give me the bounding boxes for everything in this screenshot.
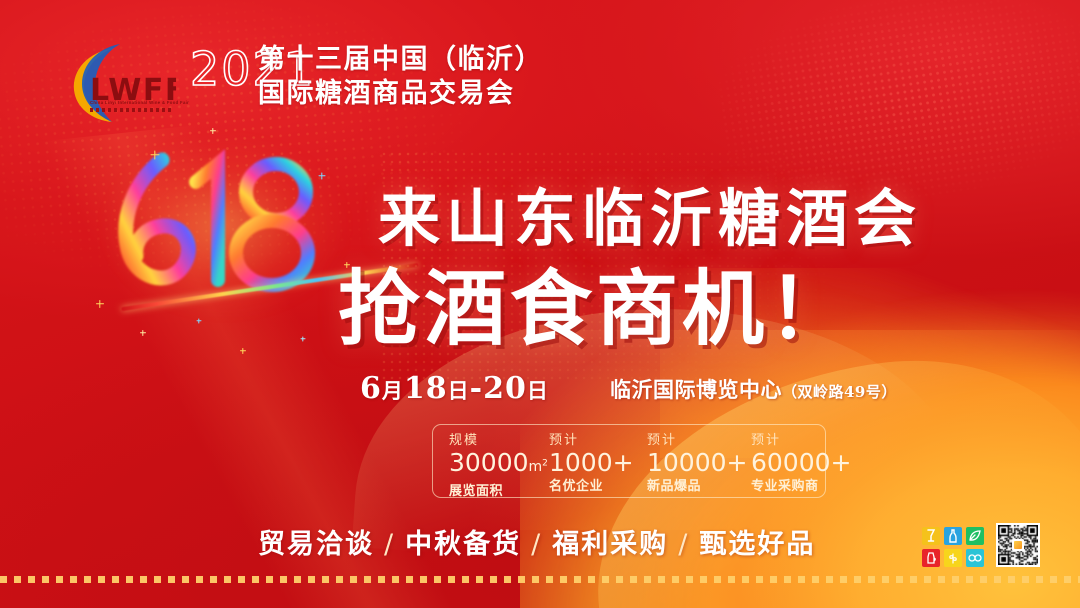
tagline-separator: /: [521, 529, 552, 560]
date-month-unit: 月: [382, 378, 404, 403]
promotional-banner: LWFF China Linyi International Wine & Fo…: [0, 0, 1080, 608]
headline-secondary: 抢酒食商机！: [338, 266, 854, 354]
icon-glasses[interactable]: [966, 549, 984, 567]
logo-subtitle: China Linyi International Wine & Food Fa…: [90, 100, 174, 105]
sparkle: [318, 172, 325, 179]
date-end-unit: 日: [527, 378, 549, 403]
event-title-line1: 第十三届中国（临沂）: [258, 44, 543, 75]
icon-leaf[interactable]: [966, 527, 984, 545]
stat-item: 预计1000+名优企业: [549, 432, 647, 491]
promo-618-graphic: [100, 138, 350, 323]
stat-desc: 展览面积: [449, 483, 549, 499]
sparkle: [196, 318, 201, 323]
qr-center-logo: [1012, 539, 1024, 551]
tagline-separator: /: [668, 529, 699, 560]
event-venue: 临沂国际博览中心（双岭路49号）: [610, 376, 897, 406]
date-day-start: 18: [404, 371, 448, 406]
stat-key: 规模: [449, 432, 549, 447]
date-dash: -: [470, 371, 483, 406]
stat-desc: 专业采购商: [751, 478, 846, 494]
logo-decor-bars: [90, 108, 174, 112]
sparkle: [96, 300, 104, 308]
stat-key: 预计: [751, 432, 846, 447]
icon-bottle[interactable]: [944, 527, 962, 545]
banner-header: LWFF China Linyi International Wine & Fo…: [0, 0, 1080, 132]
stats-panel: 规模30000m2展览面积预计1000+名优企业预计10000+新品爆品预计60…: [432, 424, 826, 498]
stat-value: 30000m2: [449, 448, 549, 482]
sparkle: [150, 150, 159, 159]
sparkle: [210, 128, 216, 134]
event-meta: 6月18日-20日 临沂国际博览中心（双岭路49号）: [360, 372, 940, 408]
tagline-item: 甄选好品: [699, 529, 815, 560]
tagline-item: 中秋备货: [405, 529, 521, 560]
stat-unit: m2: [529, 459, 548, 475]
tagline-separator: /: [374, 529, 405, 560]
stat-item: 预计10000+新品爆品: [647, 432, 751, 491]
event-date: 6月18日-20日: [360, 372, 549, 408]
icon-jug[interactable]: [922, 549, 940, 567]
app-icon-grid: [922, 527, 984, 567]
event-title-line2: 国际糖酒商品交易会: [258, 78, 543, 109]
stat-desc: 新品爆品: [647, 478, 751, 494]
dashed-divider: [0, 576, 1080, 583]
icon-grain[interactable]: [944, 549, 962, 567]
stat-key: 预计: [549, 432, 647, 447]
icon-wine-pour[interactable]: [922, 527, 940, 545]
qr-code[interactable]: [996, 523, 1040, 567]
date-month: 6: [360, 371, 382, 406]
lwff-logo: LWFF China Linyi International Wine & Fo…: [68, 42, 176, 128]
stat-value: 1000+: [549, 448, 647, 477]
stat-value: 60000+: [751, 448, 846, 477]
tagline-item: 福利采购: [552, 529, 668, 560]
sparkle: [300, 336, 305, 341]
stat-item: 预计60000+专业采购商: [751, 432, 846, 491]
stat-item: 规模30000m2展览面积: [449, 432, 549, 491]
event-title: 第十三届中国（临沂） 国际糖酒商品交易会: [258, 44, 543, 109]
date-day-unit: 日: [448, 378, 470, 403]
venue-address: （双岭路49号）: [782, 383, 897, 401]
headline-primary: 来山东临沂糖酒会: [378, 186, 922, 252]
sparkle: [240, 348, 246, 354]
stat-key: 预计: [647, 432, 751, 447]
date-day-end: 20: [483, 371, 527, 406]
qr-code-image: [998, 525, 1038, 565]
sparkle: [140, 330, 146, 336]
venue-name: 临沂国际博览中心: [610, 377, 782, 402]
stat-desc: 名优企业: [549, 478, 647, 494]
tagline-list: 贸易洽谈/中秋备货/福利采购/甄选好品: [258, 528, 815, 562]
stat-value: 10000+: [647, 448, 751, 477]
tagline-item: 贸易洽谈: [258, 529, 374, 560]
